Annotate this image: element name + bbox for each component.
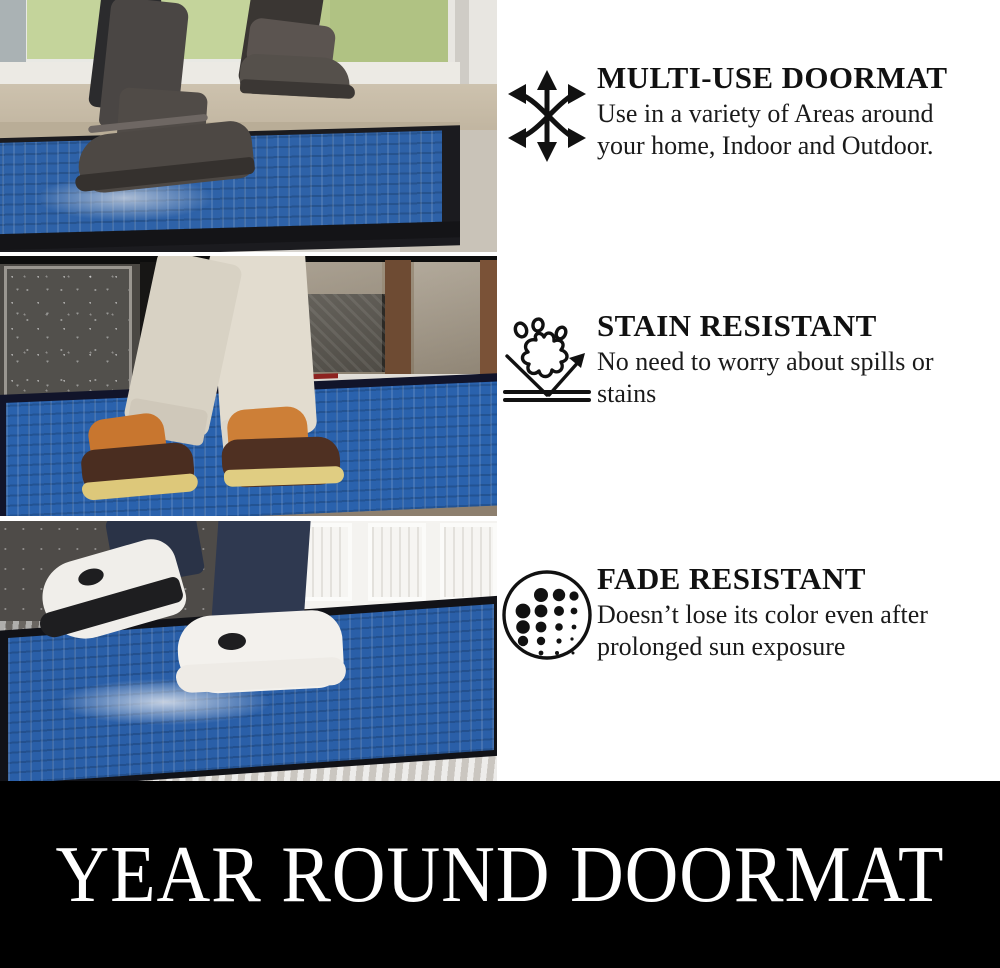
feature-description: Doesn’t lose its color even after prolon… bbox=[597, 599, 986, 662]
feature-title: STAIN RESISTANT bbox=[597, 310, 986, 343]
feature-multi-use: MULTI-USE DOORMAT Use in a variety of Ar… bbox=[497, 62, 1000, 164]
fading-dots-circle-icon bbox=[497, 563, 597, 661]
feature-fade-resistant: FADE RESISTANT Doesn’t lose its color ev… bbox=[497, 563, 1000, 662]
photo-duck-boots-commercial-entry bbox=[0, 256, 497, 516]
feature-title: MULTI-USE DOORMAT bbox=[597, 62, 986, 95]
photo-boots-at-green-door bbox=[0, 0, 497, 252]
feature-description: No need to worry about spills or stains bbox=[597, 346, 986, 409]
feature-text: MULTI-USE DOORMAT Use in a variety of Ar… bbox=[597, 62, 1000, 161]
feature-description: Use in a variety of Areas around your ho… bbox=[597, 98, 986, 161]
feature-text: FADE RESISTANT Doesn’t lose its color ev… bbox=[597, 563, 1000, 662]
door-glass-panel-2 bbox=[368, 523, 426, 601]
infographic-page: MULTI-USE DOORMAT Use in a variety of Ar… bbox=[0, 0, 1000, 968]
feature-title: FADE RESISTANT bbox=[597, 563, 986, 596]
liquid-splash-repel-icon bbox=[497, 310, 597, 408]
speckled-panel bbox=[4, 266, 132, 400]
feature-stain-resistant: STAIN RESISTANT No need to worry about s… bbox=[497, 310, 1000, 409]
product-photo-column bbox=[0, 0, 497, 781]
bottom-banner: YEAR ROUND DOORMAT bbox=[0, 781, 1000, 968]
multi-direction-arrows-icon bbox=[497, 62, 597, 164]
feature-list: MULTI-USE DOORMAT Use in a variety of Ar… bbox=[497, 0, 1000, 781]
door-glass-panel-3 bbox=[440, 523, 497, 601]
door-sill bbox=[0, 62, 460, 86]
feature-text: STAIN RESISTANT No need to worry about s… bbox=[597, 310, 1000, 409]
photo-sneakers-indoor bbox=[0, 521, 497, 781]
banner-headline: YEAR ROUND DOORMAT bbox=[56, 835, 945, 915]
